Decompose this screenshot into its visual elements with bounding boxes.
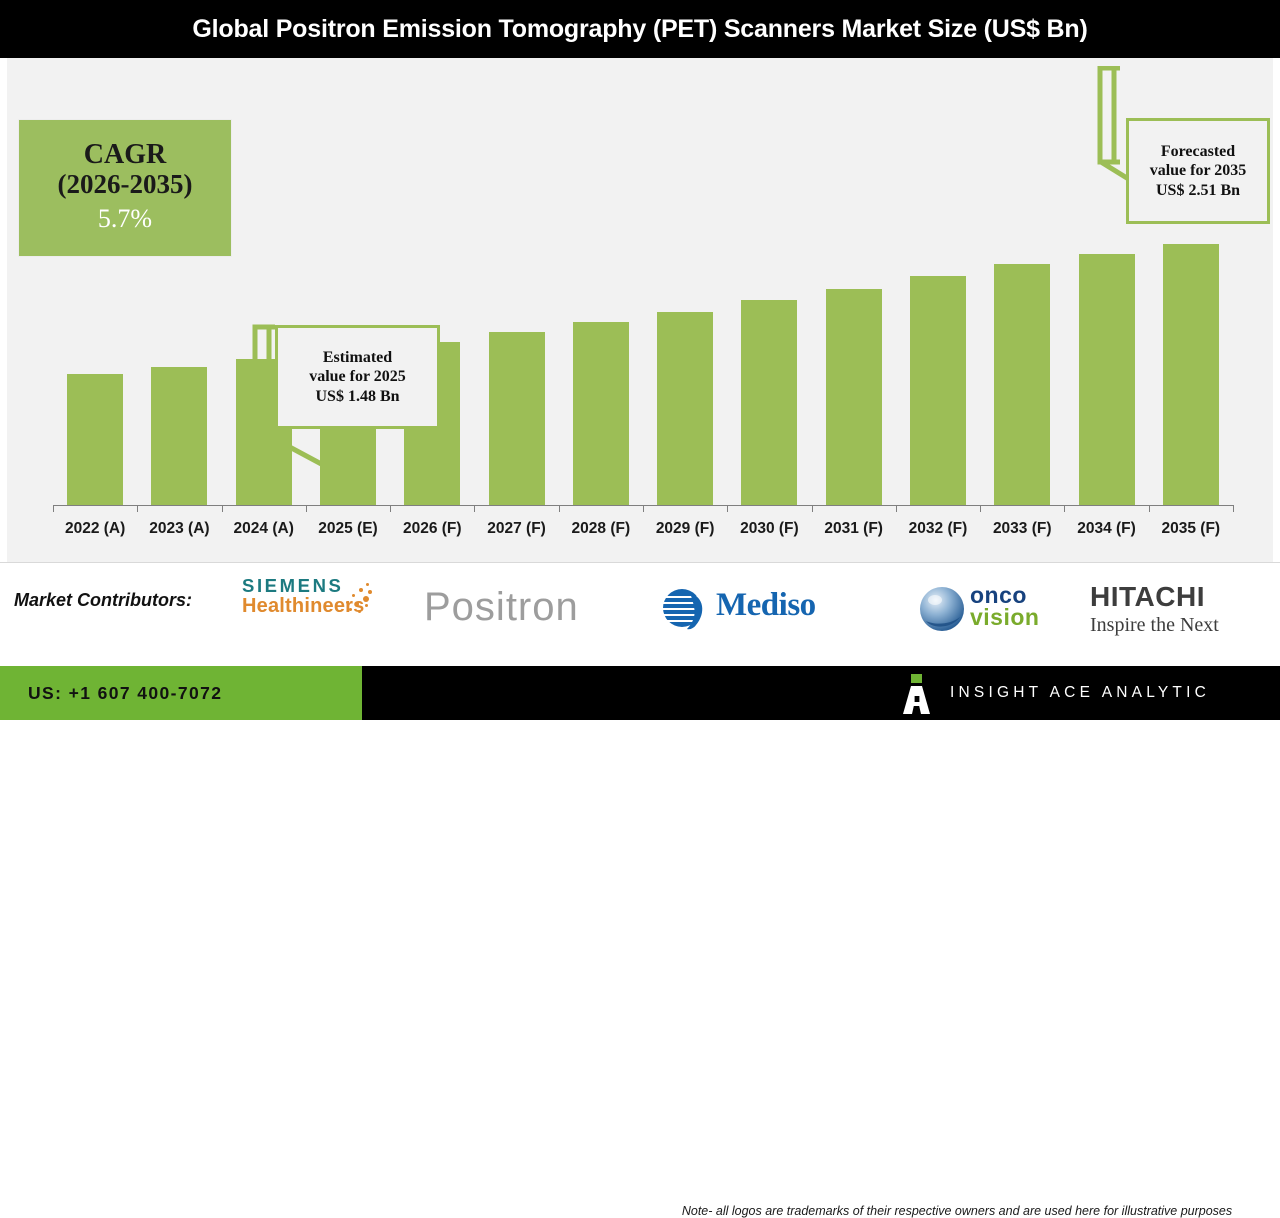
infographic-page: Global Positron Emission Tomography (PET… [0, 0, 1280, 720]
insight-ace-analytic-logo-icon [900, 674, 934, 714]
bar [826, 289, 882, 505]
x-axis-tick [980, 505, 981, 512]
x-axis-tick [1064, 505, 1065, 512]
x-axis-tick [727, 505, 728, 512]
x-axis-label: 2025 (E) [306, 514, 390, 544]
x-axis-tick [1233, 505, 1234, 512]
footer-bar: US: +1 607 400-7072 INSIGHT ACE ANALYTIC [0, 666, 1280, 720]
bar [1163, 244, 1219, 505]
bar [910, 276, 966, 505]
x-axis-tick [474, 505, 475, 512]
cagr-period: (2026-2035) [58, 169, 193, 200]
chart-panel: 2022 (A)2023 (A)2024 (A)2025 (E)2026 (F)… [0, 58, 1280, 562]
cagr-title: CAGR [84, 140, 166, 169]
hitachi-tagline: Inspire the Next [1090, 613, 1219, 637]
cagr-box: CAGR (2026-2035) 5.7% [19, 120, 231, 256]
estimated-value-callout: Estimated value for 2025 US$ 1.48 Bn [275, 325, 440, 429]
estimated-callout-line3: US$ 1.48 Bn [315, 387, 399, 407]
market-contributors-strip: Market Contributors: SIEMENS Healthineer… [0, 562, 1280, 670]
forecasted-callout-line1: Forecasted [1161, 142, 1235, 162]
x-axis-tick [643, 505, 644, 512]
x-axis-label: 2028 (F) [559, 514, 643, 544]
x-axis-tick [896, 505, 897, 512]
x-axis-tick [137, 505, 138, 512]
x-axis-tick [559, 505, 560, 512]
x-axis-label: 2030 (F) [727, 514, 811, 544]
bar [573, 322, 629, 505]
vision-wordmark: vision [970, 604, 1039, 631]
bar [1079, 254, 1135, 505]
market-contributors-label: Market Contributors: [14, 590, 192, 611]
x-axis-label: 2033 (F) [980, 514, 1064, 544]
forecasted-callout-line2: value for 2035 [1150, 161, 1247, 181]
x-axis-label: 2032 (F) [896, 514, 980, 544]
positron-logo: Positron [424, 585, 579, 630]
x-axis-label: 2029 (F) [643, 514, 727, 544]
footer-brand: INSIGHT ACE ANALYTIC [950, 666, 1210, 720]
estimated-callout-line1: Estimated [323, 348, 392, 368]
hitachi-logo: HITACHI Inspire the Next [1090, 583, 1219, 637]
x-axis-label: 2027 (F) [474, 514, 558, 544]
x-axis-tick [222, 505, 223, 512]
x-axis-label: 2026 (F) [390, 514, 474, 544]
x-axis-label: 2023 (A) [137, 514, 221, 544]
siemens-dots-icon [332, 581, 376, 617]
bar [741, 300, 797, 505]
page-title: Global Positron Emission Tomography (PET… [0, 0, 1280, 58]
x-axis-tick [390, 505, 391, 512]
x-axis-labels: 2022 (A)2023 (A)2024 (A)2025 (E)2026 (F)… [53, 514, 1233, 544]
hitachi-wordmark: HITACHI [1090, 583, 1219, 611]
oncovision-sphere-icon [918, 585, 966, 633]
x-axis-tick [306, 505, 307, 512]
x-axis-label: 2031 (F) [812, 514, 896, 544]
forecasted-value-callout: Forecasted value for 2035 US$ 2.51 Bn [1126, 118, 1270, 224]
mediso-wordmark: Mediso [716, 587, 816, 624]
bar [67, 374, 123, 505]
footer-phone[interactable]: US: +1 607 400-7072 [28, 666, 222, 720]
x-axis-label: 2035 (F) [1149, 514, 1233, 544]
x-axis-label: 2024 (A) [222, 514, 306, 544]
mediso-swirl-icon [660, 587, 708, 631]
x-axis-label: 2022 (A) [53, 514, 137, 544]
x-axis-label: 2034 (F) [1064, 514, 1148, 544]
cagr-value: 5.7% [98, 202, 152, 236]
bar-chart-plot: 2022 (A)2023 (A)2024 (A)2025 (E)2026 (F)… [7, 58, 1280, 562]
bar [657, 312, 713, 505]
title-bar: Global Positron Emission Tomography (PET… [0, 0, 1280, 58]
siemens-healthineers-logo: SIEMENS Healthineers [242, 575, 364, 618]
trademark-note: Note- all logos are trademarks of their … [640, 1204, 1274, 1218]
x-axis-tick [1149, 505, 1150, 512]
bar [489, 332, 545, 505]
estimated-callout-line2: value for 2025 [309, 367, 406, 387]
bar [994, 264, 1050, 505]
forecasted-callout-line3: US$ 2.51 Bn [1156, 181, 1240, 201]
x-axis-tick [812, 505, 813, 512]
bar [151, 367, 207, 505]
x-axis-tick [53, 505, 54, 512]
